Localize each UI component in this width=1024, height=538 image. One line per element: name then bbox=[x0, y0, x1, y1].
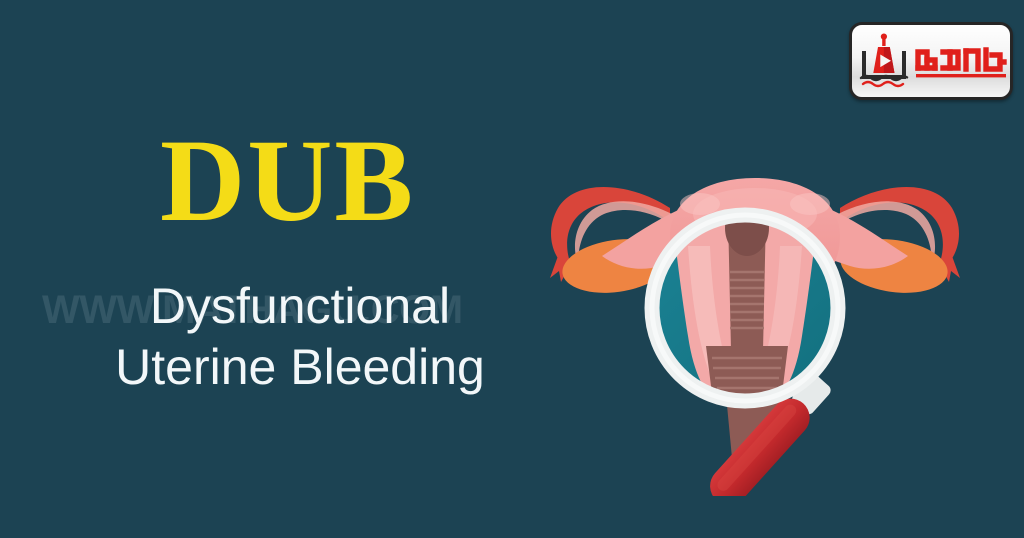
uterus-illustration bbox=[520, 96, 990, 496]
uterus-anatomy-graphic bbox=[520, 96, 990, 496]
page-subtitle: Dysfunctional Uterine Bleeding bbox=[0, 276, 600, 398]
page-title-acronym: DUB bbox=[160, 122, 415, 240]
lighthouse-icon bbox=[858, 33, 910, 89]
tamil-wordmark-icon bbox=[914, 38, 1008, 84]
page-subtitle-line-2: Uterine Bleeding bbox=[0, 337, 600, 398]
brand-logo-badge[interactable] bbox=[849, 22, 1013, 100]
page-subtitle-line-1: Dysfunctional bbox=[0, 276, 600, 337]
slide-canvas: WWW.MATHAGU.COM DUB Dysfunctional Uterin… bbox=[0, 0, 1024, 538]
brand-wordmark bbox=[911, 38, 1010, 84]
